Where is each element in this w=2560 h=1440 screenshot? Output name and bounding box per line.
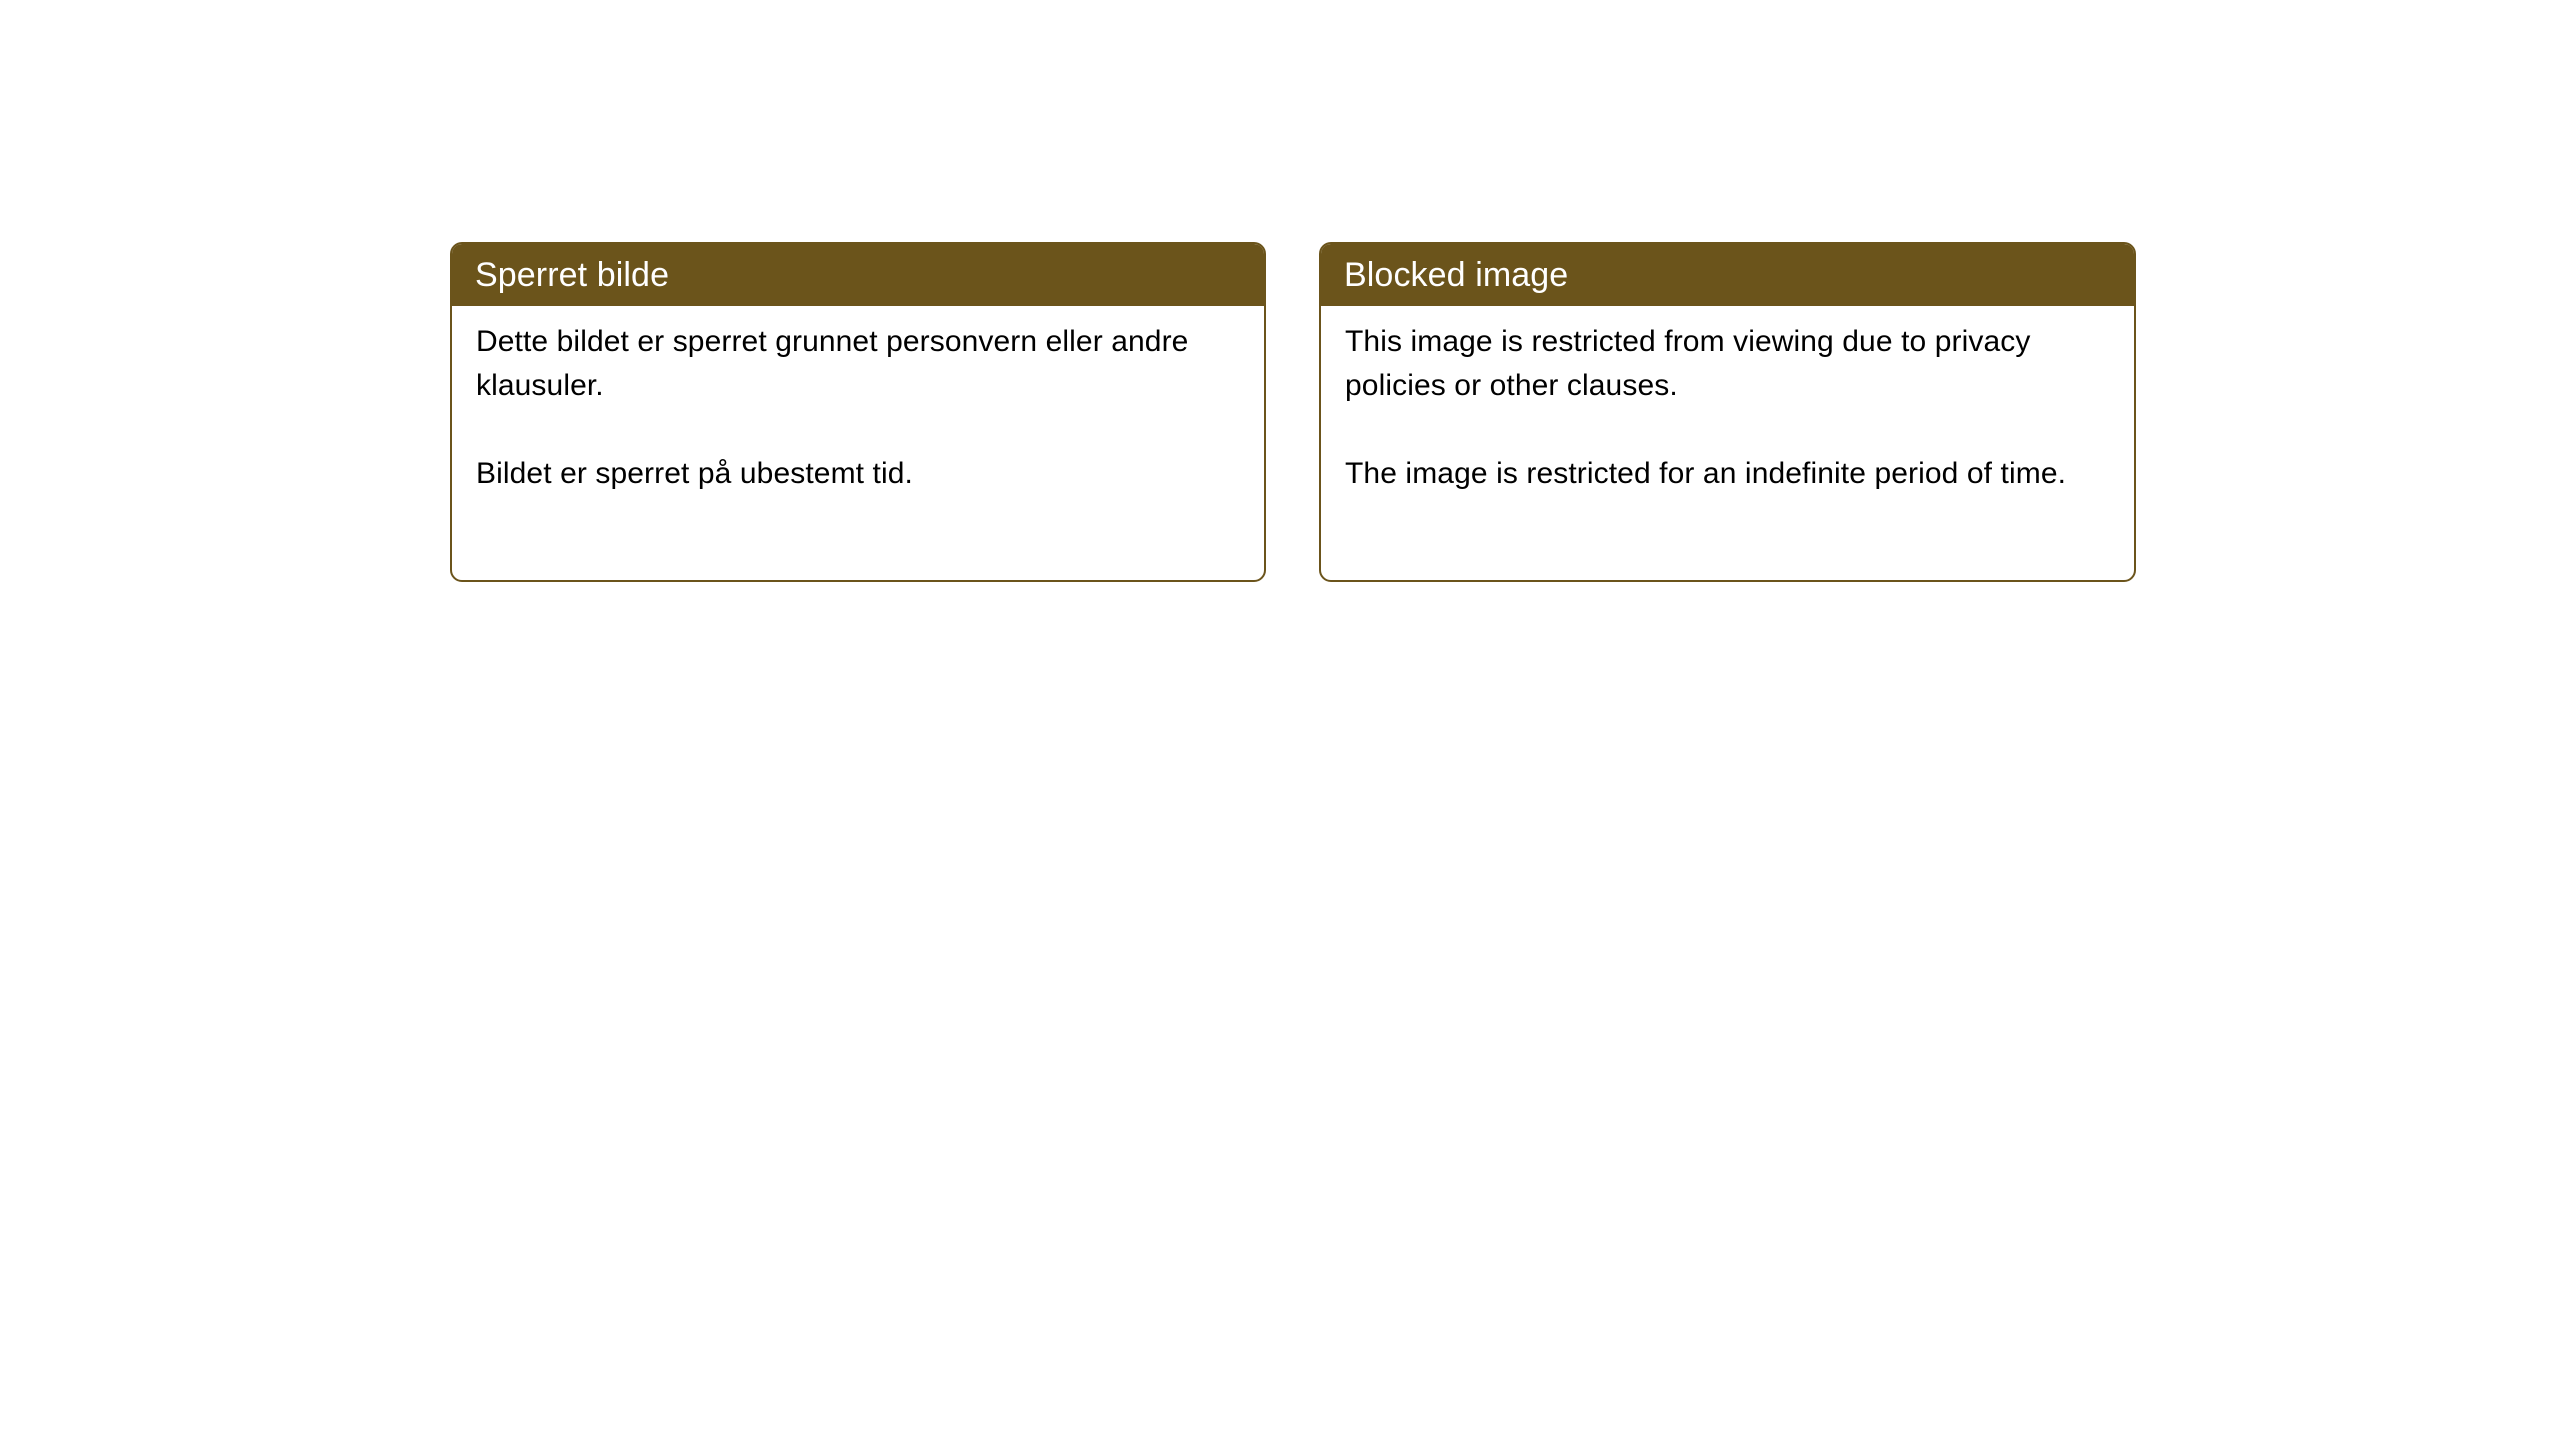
- blocked-image-notice-card-english: Blocked image This image is restricted f…: [1319, 242, 2136, 582]
- notice-paragraph-duration: The image is restricted for an indefinit…: [1345, 452, 2110, 496]
- notice-card-body: This image is restricted from viewing du…: [1321, 306, 2134, 496]
- notice-paragraph-reason: Dette bildet er sperret grunnet personve…: [476, 320, 1240, 408]
- notice-card-title: Sperret bilde: [475, 258, 669, 292]
- notice-card-title: Blocked image: [1344, 258, 1568, 292]
- blocked-image-notice-card-norwegian: Sperret bilde Dette bildet er sperret gr…: [450, 242, 1266, 582]
- notice-card-header: Blocked image: [1321, 244, 2134, 306]
- notice-card-body: Dette bildet er sperret grunnet personve…: [452, 306, 1264, 496]
- notice-paragraph-reason: This image is restricted from viewing du…: [1345, 320, 2110, 408]
- notice-card-header: Sperret bilde: [452, 244, 1264, 306]
- notice-paragraph-duration: Bildet er sperret på ubestemt tid.: [476, 452, 1240, 496]
